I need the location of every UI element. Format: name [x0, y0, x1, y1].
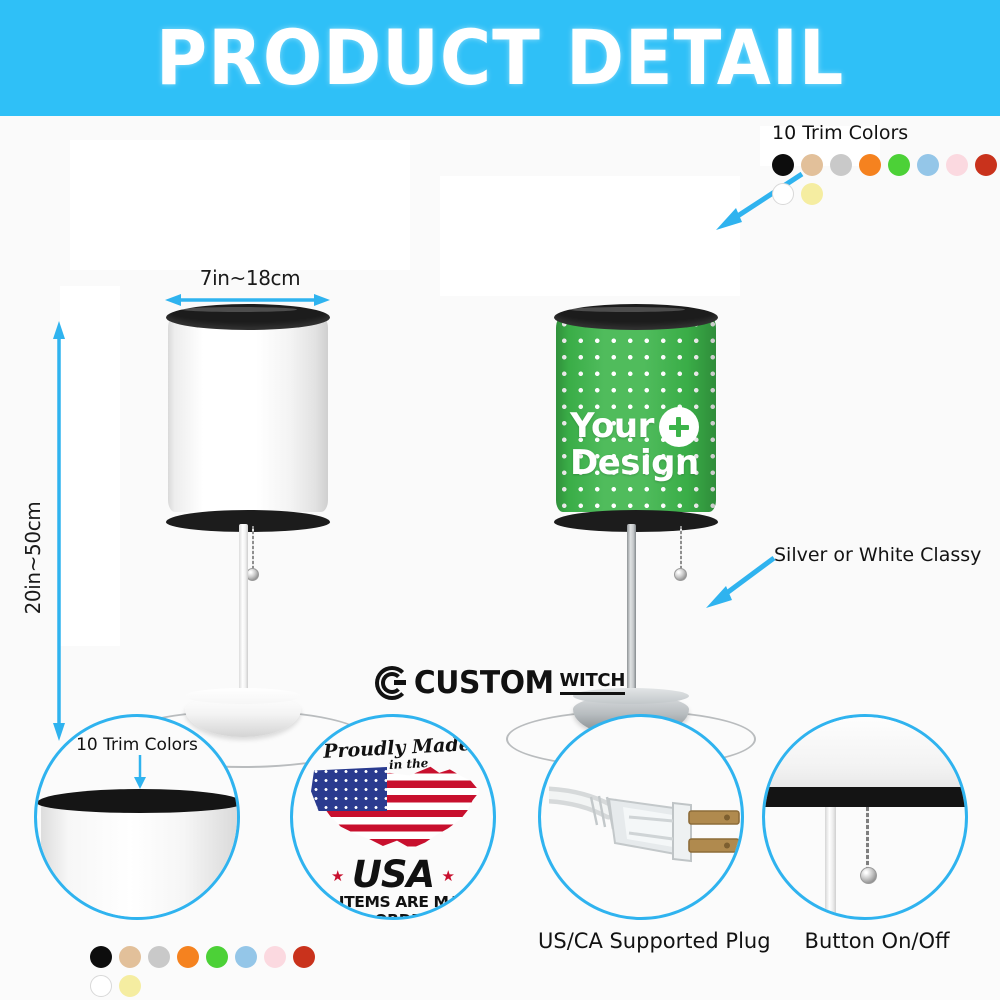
- trim-color-swatches[interactable]: [772, 154, 1000, 205]
- swatch-red[interactable]: [975, 154, 997, 176]
- header-banner: PRODUCT DETAIL: [0, 0, 1000, 116]
- trim-highlight: [570, 307, 685, 312]
- pull-chain[interactable]: [680, 526, 682, 570]
- pull-chain-ball[interactable]: [674, 568, 687, 581]
- shade-trim-bottom: [762, 787, 968, 807]
- feature-trim-colors: 10 Trim Colors: [34, 714, 264, 920]
- base-finish-arrow-icon: [700, 552, 780, 612]
- base-finish-label: Silver or White Classy: [774, 544, 981, 566]
- shade-trim-top: [37, 789, 240, 813]
- bg-patch: [440, 176, 740, 296]
- swatch-orange[interactable]: [177, 946, 199, 968]
- swatch-yellow[interactable]: [119, 975, 141, 997]
- product-stage: 7in~18cm 20in~50cm: [0, 116, 1000, 700]
- trim-highlight: [182, 307, 297, 312]
- brand-underline: [560, 692, 626, 695]
- swatch-black[interactable]: [90, 946, 112, 968]
- pull-chain[interactable]: [252, 526, 254, 570]
- usa-line-2: in the: [389, 756, 429, 772]
- swatch-light-blue[interactable]: [235, 946, 257, 968]
- trim-colors-panel: 10 Trim Colors: [772, 122, 1000, 205]
- c-ring-logo-icon: [375, 666, 409, 700]
- swatch-white[interactable]: [90, 975, 112, 997]
- plus-icon[interactable]: [659, 407, 699, 447]
- swatch-red[interactable]: [293, 946, 315, 968]
- swatch-white[interactable]: [772, 183, 794, 205]
- swatch-green[interactable]: [206, 946, 228, 968]
- power-plug-icon: [549, 763, 744, 883]
- swatch-black[interactable]: [772, 154, 794, 176]
- feature-circle: [762, 714, 968, 920]
- feature-button-onoff: Button On/Off: [762, 714, 992, 953]
- swatch-tan[interactable]: [119, 946, 141, 968]
- swatch-yellow[interactable]: [801, 183, 823, 205]
- design-text-design: Design: [570, 447, 699, 480]
- design-line-1: Your: [570, 407, 711, 447]
- swatch-pink[interactable]: [264, 946, 286, 968]
- trim-color-swatches-bottom[interactable]: [90, 946, 340, 997]
- lamp-pole: [825, 807, 836, 920]
- swatch-tan[interactable]: [801, 154, 823, 176]
- swatch-green[interactable]: [888, 154, 910, 176]
- shade-surface: Your Design: [556, 316, 716, 512]
- shade-trim-bottom: [166, 510, 330, 532]
- shade-surface: [762, 714, 968, 789]
- trim-colors-title: 10 Trim Colors: [772, 122, 1000, 144]
- star-icon: ★: [442, 867, 455, 885]
- design-line-2: Design: [570, 447, 711, 480]
- design-text-your: Your: [570, 410, 654, 443]
- feature-trim-label: 10 Trim Colors: [37, 735, 237, 755]
- your-design-overlay: Your Design: [570, 407, 711, 480]
- feature-made-in-usa: Proudly Made in the USA ★ ★ ALL ITEMS AR…: [290, 714, 520, 920]
- feature-row: 10 Trim Colors Proudly Made in the USA ★…: [0, 706, 1000, 1000]
- shade-trim-bottom: [554, 510, 718, 532]
- bg-patch: [60, 286, 120, 646]
- shade-surface: [41, 799, 239, 920]
- brand-name-sub-wrap: WITCH: [560, 672, 626, 695]
- button-caption: Button On/Off: [762, 929, 992, 953]
- usa-country-text: USA: [293, 853, 493, 896]
- plug-caption: US/CA Supported Plug: [538, 929, 768, 953]
- lamp-shade-white: [168, 304, 328, 524]
- usa-flag-canton: [311, 767, 387, 811]
- feature-circle: Proudly Made in the USA ★ ★ ALL ITEMS AR…: [290, 714, 496, 920]
- feature-plug: US/CA Supported Plug: [538, 714, 768, 953]
- swatch-orange[interactable]: [859, 154, 881, 176]
- feature-circle: 10 Trim Colors: [34, 714, 240, 920]
- swatch-gray[interactable]: [830, 154, 852, 176]
- bg-patch: [70, 140, 410, 270]
- star-icon: ★: [331, 867, 344, 885]
- pull-chain-ball[interactable]: [860, 867, 877, 884]
- shade-trim-top: [166, 304, 330, 330]
- swatch-gray[interactable]: [148, 946, 170, 968]
- feature-circle: [538, 714, 744, 920]
- width-dimension-label: 7in~18cm: [170, 266, 330, 290]
- brand-logo: CUSTOM WITCH: [0, 662, 1000, 704]
- usa-tagline: ALL ITEMS ARE MADE TO ORDER!: [293, 893, 493, 920]
- shade-trim-top: [554, 304, 718, 330]
- down-arrow-icon: [132, 755, 148, 789]
- logo-bar: [394, 680, 406, 685]
- page-title: PRODUCT DETAIL: [156, 20, 844, 96]
- brand-name-sub: WITCH: [560, 672, 626, 690]
- brand-name-main: CUSTOM: [414, 665, 554, 701]
- swatch-light-blue[interactable]: [917, 154, 939, 176]
- height-dimension-label: 20in~50cm: [21, 473, 45, 643]
- pull-chain[interactable]: [866, 807, 869, 869]
- shade-surface: [168, 316, 328, 512]
- lamp-shade-green: Your Design: [556, 304, 716, 524]
- swatch-pink[interactable]: [946, 154, 968, 176]
- usa-badge: Proudly Made in the USA ★ ★ ALL ITEMS AR…: [293, 717, 493, 917]
